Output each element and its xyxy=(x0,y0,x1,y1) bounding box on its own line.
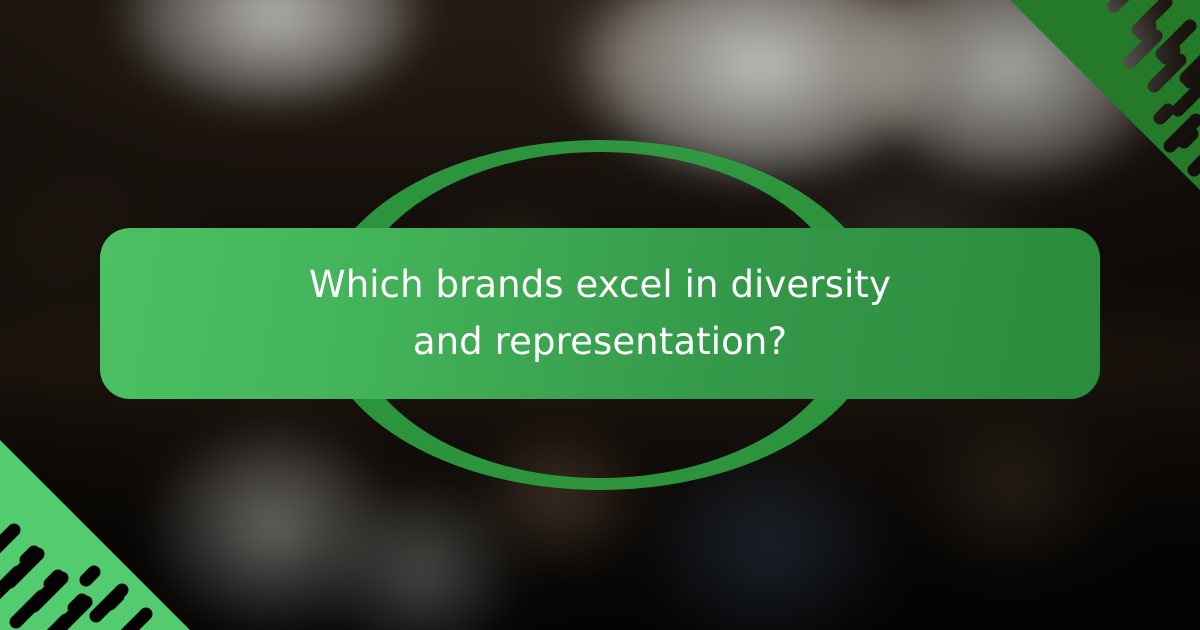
corner-dash-pattern-top-right-icon xyxy=(1010,0,1200,190)
corner-dash-pattern-bottom-left-icon xyxy=(0,440,190,630)
social-share-card: Which brands excel in diversity and repr… xyxy=(0,0,1200,630)
headline-banner: Which brands excel in diversity and repr… xyxy=(100,228,1100,399)
page-title: Which brands excel in diversity and repr… xyxy=(270,257,930,369)
